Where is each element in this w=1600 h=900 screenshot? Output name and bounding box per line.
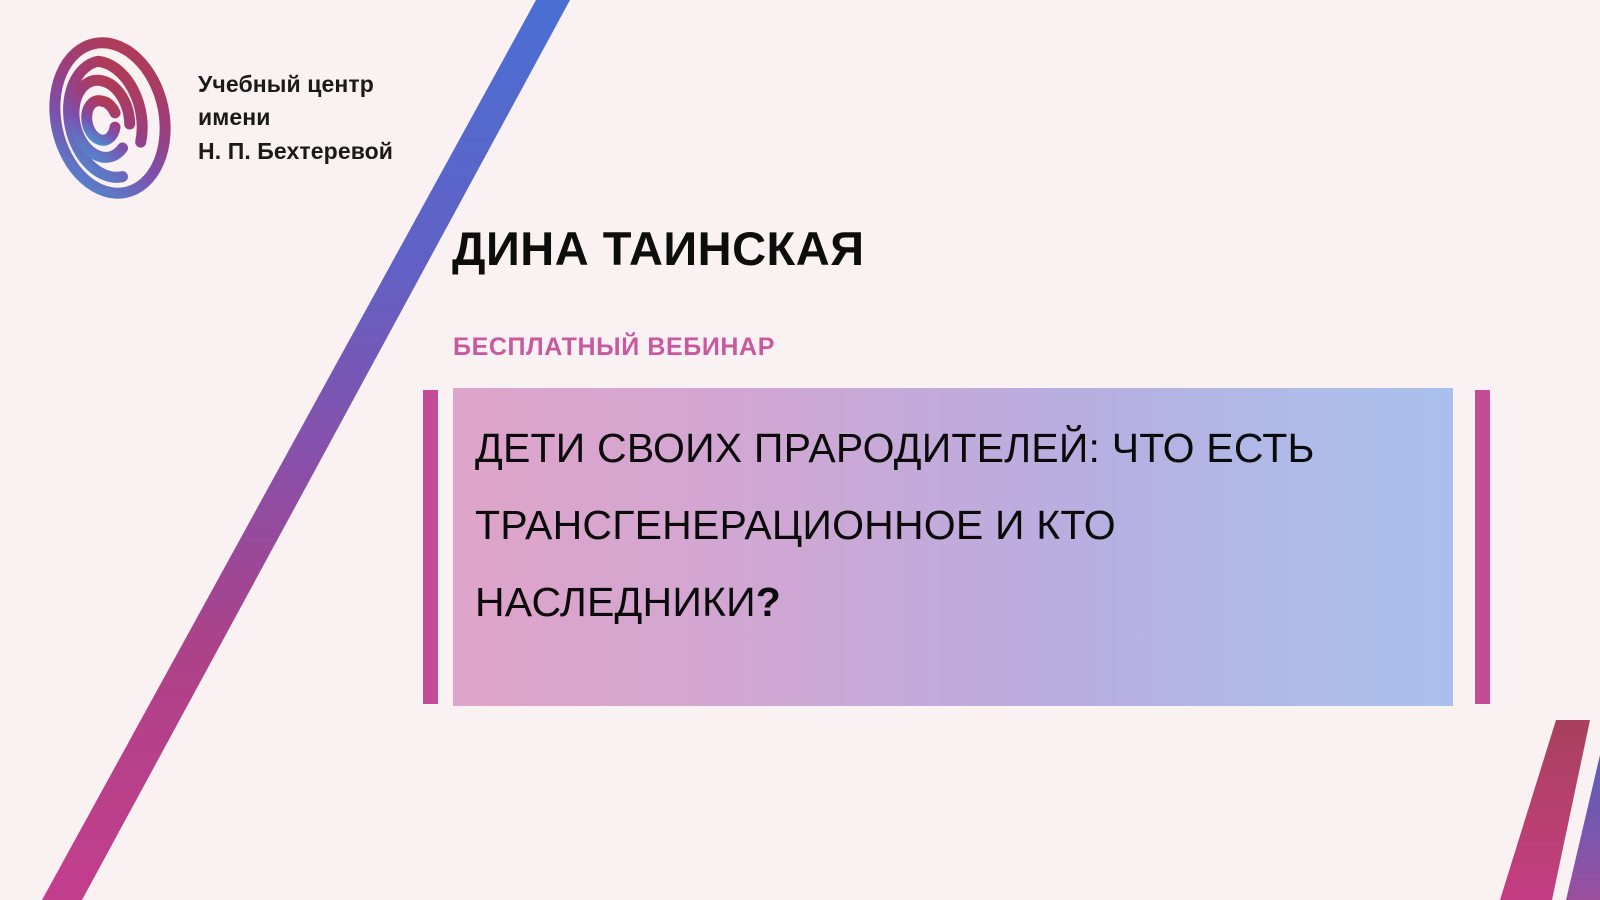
speaker-name: ДИНА ТАИНСКАЯ	[452, 225, 864, 272]
title-line-3-text: НАСЛЕДНИКИ	[475, 579, 756, 625]
accent-bar-right	[1475, 390, 1490, 704]
brand-wordmark: Учебный центр имени Н. П. Бехтеревой	[198, 68, 393, 168]
accent-bar-left	[423, 390, 438, 704]
spiral-logo-icon	[40, 28, 180, 208]
webinar-title-text: ДЕТИ СВОИХ ПРАРОДИТЕЛЕЙ: ЧТО ЕСТЬ ТРАНСГ…	[475, 410, 1435, 641]
corner-diagonal-stripe-purple-2	[1566, 755, 1600, 900]
title-question-mark: ?	[756, 579, 781, 625]
title-gradient-panel: ДЕТИ СВОИХ ПРАРОДИТЕЛЕЙ: ЧТО ЕСТЬ ТРАНСГ…	[453, 388, 1453, 706]
title-line-1: ДЕТИ СВОИХ ПРАРОДИТЕЛЕЙ: ЧТО ЕСТЬ	[475, 410, 1435, 487]
title-line-2: ТРАНСГЕНЕРАЦИОННОЕ И КТО	[475, 487, 1435, 564]
event-type-kicker: БЕСПЛАТНЫЙ ВЕБИНАР	[453, 335, 775, 360]
brand-logo-block: Учебный центр имени Н. П. Бехтеревой	[40, 28, 393, 208]
slide-canvas: Учебный центр имени Н. П. Бехтеревой ДИН…	[0, 0, 1600, 900]
webinar-title-band: ДЕТИ СВОИХ ПРАРОДИТЕЛЕЙ: ЧТО ЕСТЬ ТРАНСГ…	[423, 388, 1490, 706]
corner-diagonal-stripe-crimson	[1500, 720, 1590, 900]
title-line-3: НАСЛЕДНИКИ?	[475, 564, 1435, 641]
